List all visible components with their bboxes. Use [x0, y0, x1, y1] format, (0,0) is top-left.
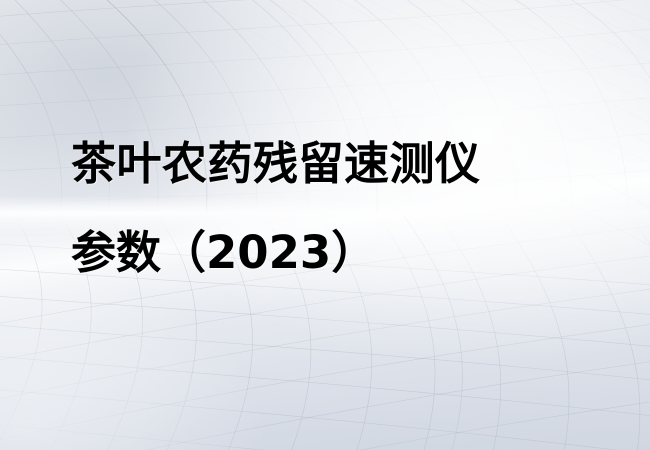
title-line-2: 参数（2023） — [71, 221, 591, 284]
title-line-1: 茶叶农药残留速测仪 — [71, 132, 591, 195]
slide-title: 茶叶农药残留速测仪 参数（2023） — [71, 132, 591, 284]
slide-canvas: 茶叶农药残留速测仪 参数（2023） — [0, 0, 650, 450]
